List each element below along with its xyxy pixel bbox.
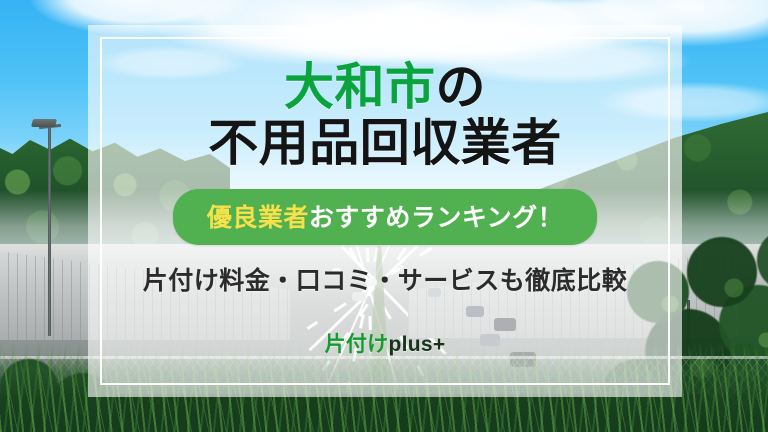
site-logo: 片付けplus+ [325,328,446,358]
logo-text-jp: 片付け [325,333,389,356]
ranking-ribbon: 優良業者おすすめランキング！ [173,189,597,245]
banner-subtitle: 片付け料金・口コミ・サービスも徹底比較 [143,261,628,297]
ribbon-highlight-text: 優良業者 [207,204,309,232]
title-line-2: 不用品回収業者 [208,115,562,171]
title-line-1: 大和市の [208,59,562,115]
ribbon-text: おすすめランキング！ [309,204,563,232]
logo-text-en: plus+ [388,333,445,356]
street-lamp-head [31,119,57,127]
hero-banner: 大和市の 不用品回収業者 優良業者おすすめランキング！ 片付け料金・口コミ・サー… [0,0,768,432]
page-title: 大和市の 不用品回収業者 [208,59,562,171]
banner-content: 大和市の 不用品回収業者 優良業者おすすめランキング！ 片付け料金・口コミ・サー… [88,25,682,397]
title-city-name: 大和市 [284,59,436,115]
title-particle: の [436,59,487,115]
street-lamp-pole [48,126,51,336]
